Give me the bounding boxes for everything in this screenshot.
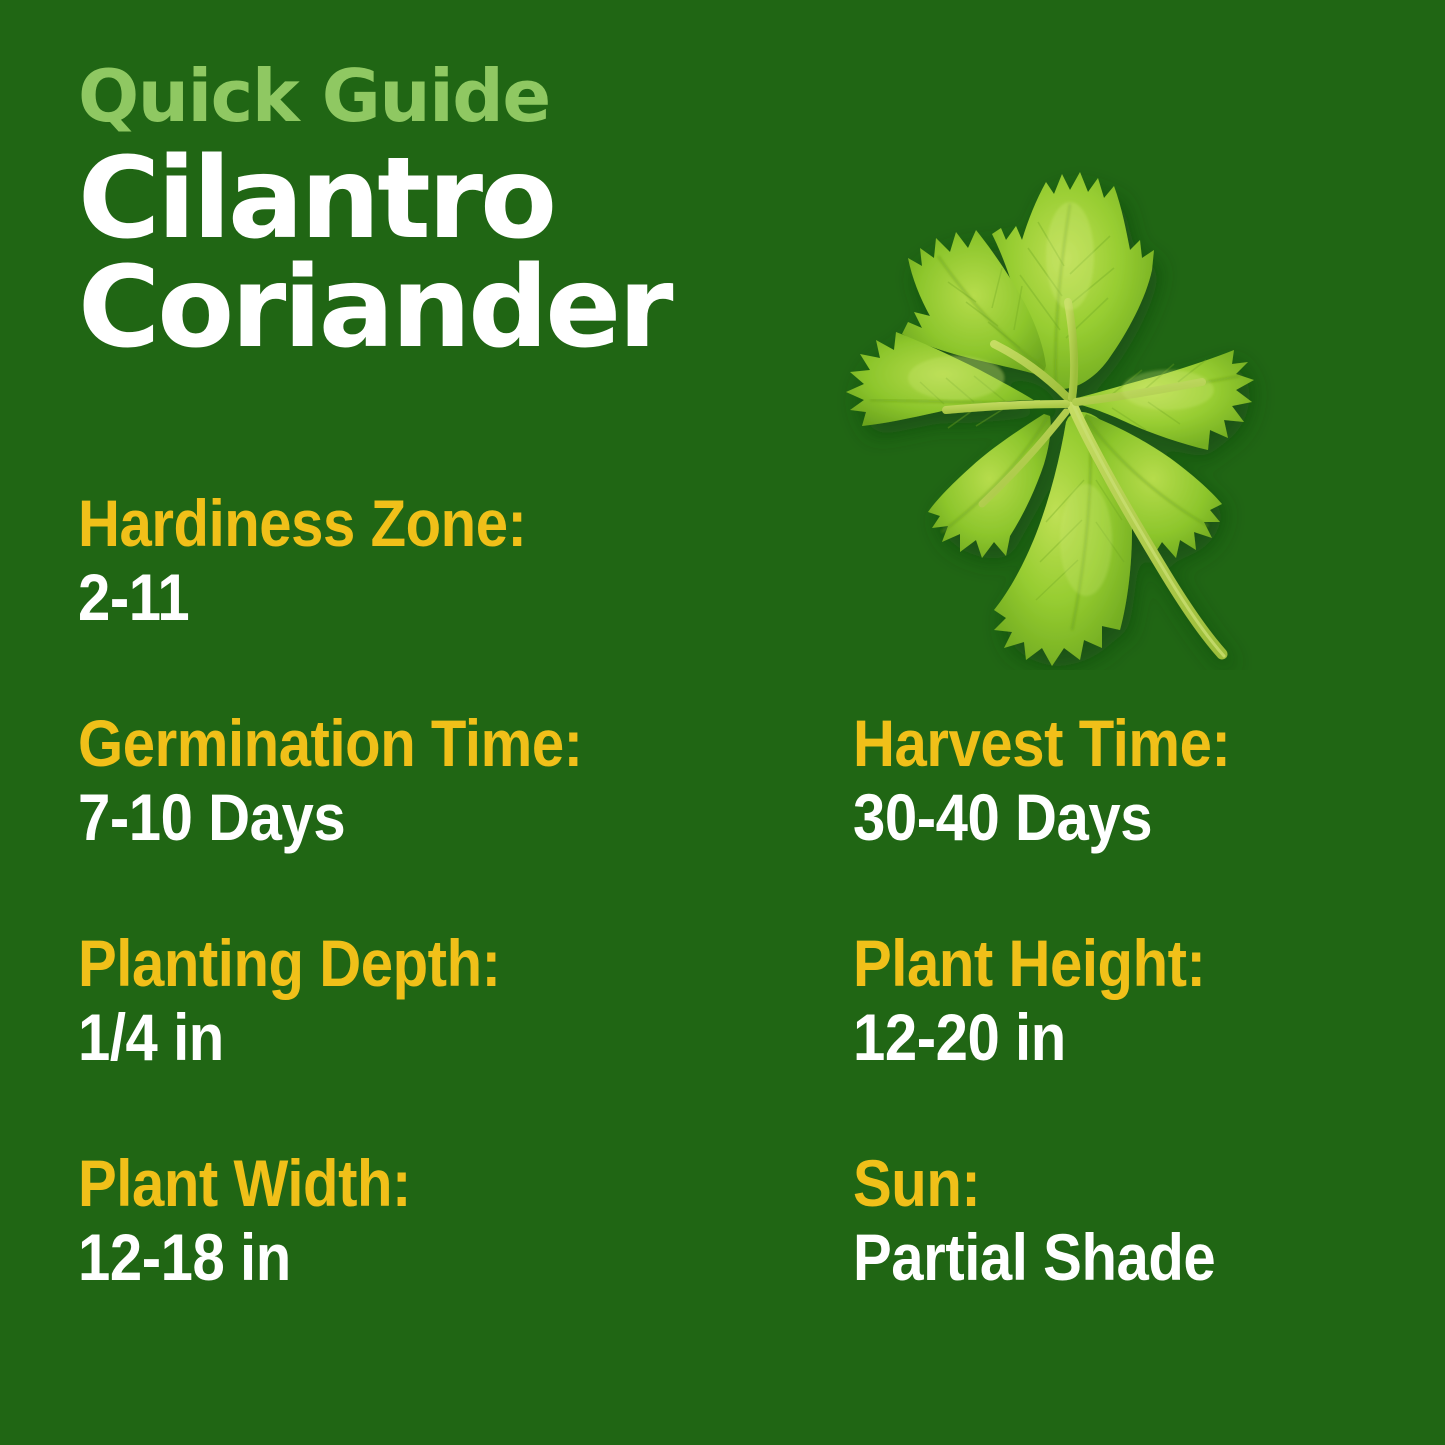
field-value: 1/4 in: [78, 1003, 744, 1072]
field-label: Hardiness Zone:: [78, 490, 744, 557]
quick-guide-fields: Hardiness Zone: 2-11 Germination Time: 7…: [78, 490, 1378, 1370]
field-value: Partial Shade: [853, 1223, 1299, 1292]
field-value: 30-40 Days: [853, 783, 1299, 852]
page-title-primary: Cilantro: [78, 148, 778, 251]
field-value: 7-10 Days: [78, 783, 744, 852]
field-label: Harvest Time:: [853, 710, 1299, 777]
field-sun: Sun: Partial Shade: [853, 1150, 1378, 1370]
field-label: Plant Height:: [853, 930, 1299, 997]
field-label: Sun:: [853, 1150, 1299, 1217]
poster-header: Quick Guide Cilantro Coriander: [78, 62, 778, 360]
field-plant-height: Plant Height: 12-20 in: [853, 930, 1378, 1150]
eyebrow-quick-guide: Quick Guide: [78, 62, 778, 130]
field-plant-width: Plant Width: 12-18 in: [78, 1150, 853, 1370]
field-label: Germination Time:: [78, 710, 744, 777]
field-value: 12-18 in: [78, 1223, 744, 1292]
field-planting-depth: Planting Depth: 1/4 in: [78, 930, 853, 1150]
field-value: 2-11: [78, 563, 744, 632]
page-title-secondary: Coriander: [78, 257, 778, 360]
field-value: 12-20 in: [853, 1003, 1299, 1072]
field-label: Plant Width:: [78, 1150, 744, 1217]
field-hardiness-zone: Hardiness Zone: 2-11: [78, 490, 853, 710]
field-germination-time: Germination Time: 7-10 Days: [78, 710, 853, 930]
quick-guide-poster: Quick Guide Cilantro Coriander: [0, 0, 1445, 1445]
field-harvest-time: Harvest Time: 30-40 Days: [853, 710, 1378, 930]
field-label: Planting Depth:: [78, 930, 744, 997]
